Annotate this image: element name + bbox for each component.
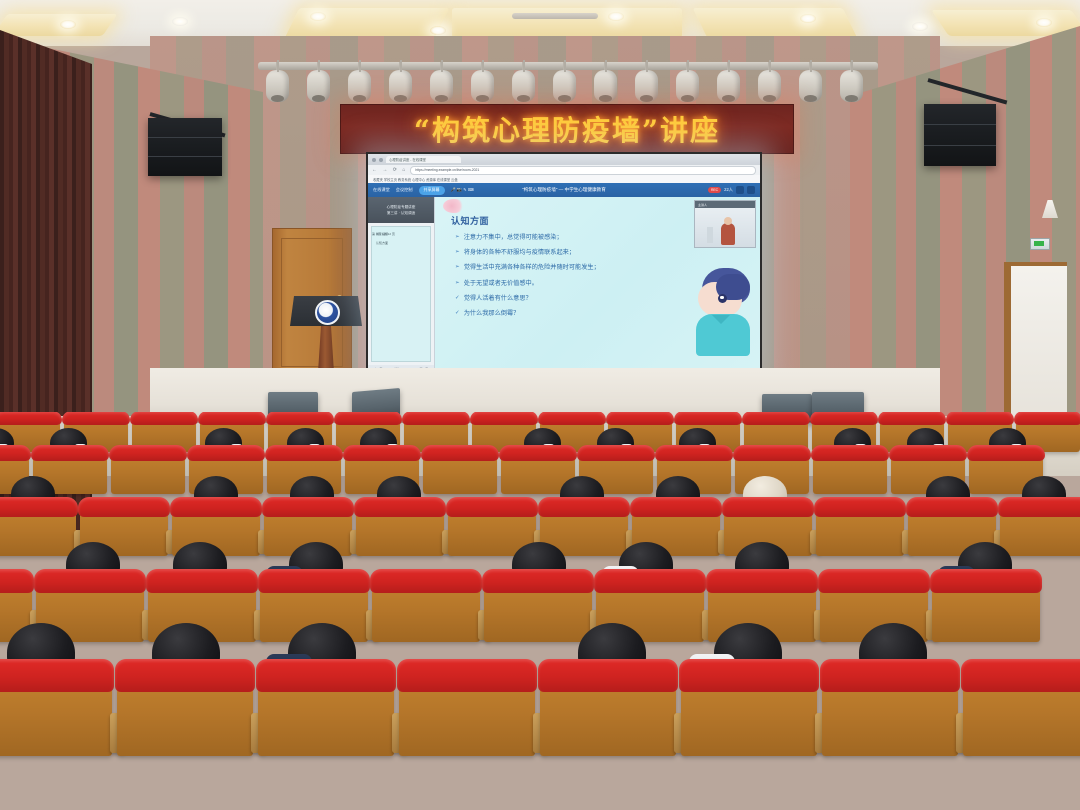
banner-title: “构筑心理防疫墙”讲座 [414, 109, 720, 149]
stage-par-lamp [717, 70, 740, 104]
stage-par-lamp [840, 70, 863, 104]
window-dot-icon[interactable] [372, 158, 376, 162]
truss-brace [605, 60, 607, 72]
auditorium-seat[interactable] [932, 570, 1040, 642]
stage-par-lamp [266, 70, 289, 104]
recessed-downlight [912, 22, 928, 31]
browser-titlebar: 心理防疫讲座 - 在线课堂 [368, 154, 760, 165]
auditorium-seat[interactable] [963, 660, 1080, 756]
truss-brace [810, 60, 812, 72]
slide-bullet: ✓为什么我那么倒霉？ [455, 311, 676, 317]
truss-brace [646, 60, 648, 72]
auditorium-seat[interactable] [540, 660, 676, 756]
share-screen-button[interactable]: 共享屏幕 [419, 186, 445, 195]
cove-light [931, 10, 1080, 36]
bullet-text: 处于无望或者无价值感中。 [464, 281, 538, 287]
lighting-truss [258, 62, 878, 70]
stage-par-lamp [512, 70, 535, 104]
stage-par-lamp [348, 70, 371, 104]
sidebar-title: 心理防疫专题讲座 [387, 205, 416, 210]
bullet-marker-icon: ➢ [455, 235, 460, 241]
stage-par-lamp [676, 70, 699, 104]
auditorium-seat[interactable] [1000, 498, 1080, 556]
auditorium-seat[interactable] [399, 660, 535, 756]
stage-par-lamp [389, 70, 412, 104]
truss-brace [441, 60, 443, 72]
slide-bullet: ➢注意力不集中，总觉得可能被感染； [455, 235, 676, 241]
video-panel-title: 主讲人 [695, 201, 755, 208]
stage-par-lamp [635, 70, 658, 104]
truss-brace [687, 60, 689, 72]
slide-decoration [443, 199, 465, 213]
recording-badge: REC [708, 187, 721, 193]
truss-brace [523, 60, 525, 72]
presentation-slide: 认知方面 ➢注意力不集中，总觉得可能被感染；➢将身体的各种不舒服均与疫情联系起来… [435, 197, 760, 372]
app-square-icon[interactable] [747, 186, 755, 194]
truss-brace [482, 60, 484, 72]
app-square-icon[interactable] [736, 186, 744, 194]
truss-brace [277, 60, 279, 72]
line-array-speaker [924, 104, 996, 166]
led-banner: “构筑心理防疫墙”讲座 [340, 104, 794, 154]
bullet-text: 注意力不集中，总觉得可能被感染； [464, 235, 563, 241]
presenter-video-panel[interactable]: 主讲人 [694, 200, 756, 248]
presenter-head [724, 217, 732, 225]
url-input[interactable]: https://meeting.example.cn/live/room-202… [410, 166, 756, 175]
recessed-downlight [172, 17, 188, 26]
truss-brace [359, 60, 361, 72]
auditorium-seat[interactable] [423, 446, 497, 494]
stage-par-lamp [307, 70, 330, 104]
recessed-downlight [310, 12, 326, 21]
sidebar-subtitle: 第三讲 · 认知调适 [387, 211, 415, 216]
school-crest-icon [315, 300, 340, 325]
bullet-text: 觉得生活中充满各种各样的危险并随时可能发生； [464, 265, 600, 271]
app-menu[interactable]: 会议控制 [396, 187, 413, 193]
stage-par-lamp [594, 70, 617, 104]
truss-brace [728, 60, 730, 72]
app-brand: 在线课堂 [373, 187, 390, 193]
browser-tab[interactable]: 心理防疫讲座 - 在线课堂 [386, 156, 461, 163]
bullet-text: 觉得人活着有什么意思？ [464, 296, 532, 302]
bullet-text: 为什么我那么倒霉？ [464, 311, 520, 317]
slide-sidebar: 心理防疫专题讲座 第三讲 · 认知调适 讲义提纲 第 3 页 / 共 12 页 … [368, 197, 435, 372]
bookmarks-bar[interactable]: 收藏夹 学校主页 教务系统 心理中心 资源库 在线课堂 云盘 [368, 175, 760, 183]
recessed-downlight [1036, 18, 1052, 27]
slide-bullet: ➢处于无望或者无价值感中。 [455, 281, 676, 287]
truss-brace [318, 60, 320, 72]
stage-par-lamp [471, 70, 494, 104]
meeting-app-toolbar: 在线课堂 会议控制 共享屏幕 🎤 📷 ✎ ⌨ “构筑心理防疫墙” — 中学生心理… [368, 183, 760, 197]
cartoon-boy-illustration [692, 268, 754, 356]
auditorium-seat[interactable] [816, 498, 904, 556]
recessed-downlight [608, 12, 624, 21]
side-doorway[interactable] [1004, 262, 1067, 428]
presenter-body [721, 223, 735, 245]
auditorium-seat[interactable] [111, 446, 185, 494]
truss-brace [564, 60, 566, 72]
bullet-marker-icon: ✓ [455, 296, 460, 302]
auditorium-seat[interactable] [0, 498, 76, 556]
sidebar-header: 心理防疫专题讲座 第三讲 · 认知调适 [368, 197, 434, 223]
audience-seating [0, 412, 1080, 810]
stage-par-lamp [758, 70, 781, 104]
exit-sign [1030, 238, 1050, 250]
auditorium-seat[interactable] [813, 446, 887, 494]
bullet-text: 将身体的各种不舒服均与疫情联系起来； [464, 250, 575, 256]
auditorium-seat[interactable] [117, 660, 253, 756]
slide-bullet: ➢将身体的各种不舒服均与疫情联系起来； [455, 250, 676, 256]
bullet-marker-icon: ➢ [455, 281, 460, 287]
truss-brace [851, 60, 853, 72]
recessed-downlight [800, 14, 816, 23]
recessed-downlight [430, 26, 446, 35]
auditorium-seat[interactable] [681, 660, 817, 756]
slide-bullet-list: ➢注意力不集中，总觉得可能被感染；➢将身体的各种不舒服均与疫情联系起来；➢觉得生… [455, 235, 676, 326]
video-background-object [707, 227, 713, 243]
bullet-marker-icon: ➢ [455, 265, 460, 271]
line-array-speaker [148, 118, 222, 176]
browser-addressbar: ← → ⟳ ⌂ https://meeting.example.cn/live/… [368, 165, 760, 175]
app-tools[interactable]: 🎤 📷 ✎ ⌨ [451, 187, 474, 193]
auditorium-seat[interactable] [822, 660, 958, 756]
truss-brace [400, 60, 402, 72]
cove-light [0, 14, 117, 36]
truss-brace [769, 60, 771, 72]
auditorium-seat[interactable] [372, 570, 480, 642]
projection-screen: 心理防疫讲座 - 在线课堂 ← → ⟳ ⌂ https://meeting.ex… [366, 152, 762, 374]
bullet-marker-icon: ➢ [455, 250, 460, 256]
stage-par-lamp [553, 70, 576, 104]
auditorium-seat[interactable] [0, 660, 112, 756]
sidebar-document[interactable]: 讲义提纲 第 3 页 / 共 12 页 认知方面 [371, 226, 431, 362]
stage-par-lamp [799, 70, 822, 104]
auditorium-seat[interactable] [484, 570, 592, 642]
bullet-marker-icon: ✓ [455, 311, 460, 317]
window-dot-icon[interactable] [379, 158, 383, 162]
auditorium-photo: “构筑心理防疫墙”讲座 心理防疫讲座 - 在线课堂 ← → ⟳ ⌂ https:… [0, 0, 1080, 810]
air-vent [512, 13, 598, 19]
slide-bullet: ✓觉得人活着有什么意思？ [455, 296, 676, 302]
slide-heading: 认知方面 [451, 214, 489, 227]
slide-bullet: ➢觉得生活中充满各种各样的危险并随时可能发生； [455, 265, 676, 271]
nav-buttons[interactable]: ← → ⟳ ⌂ [372, 167, 407, 173]
cove-light [285, 8, 450, 38]
auditorium-seat[interactable] [356, 498, 444, 556]
recessed-downlight [60, 20, 76, 29]
participants-count: 22人 [724, 187, 733, 193]
auditorium-seat[interactable] [258, 660, 394, 756]
stage-par-lamp [430, 70, 453, 104]
cove-light [693, 8, 858, 38]
